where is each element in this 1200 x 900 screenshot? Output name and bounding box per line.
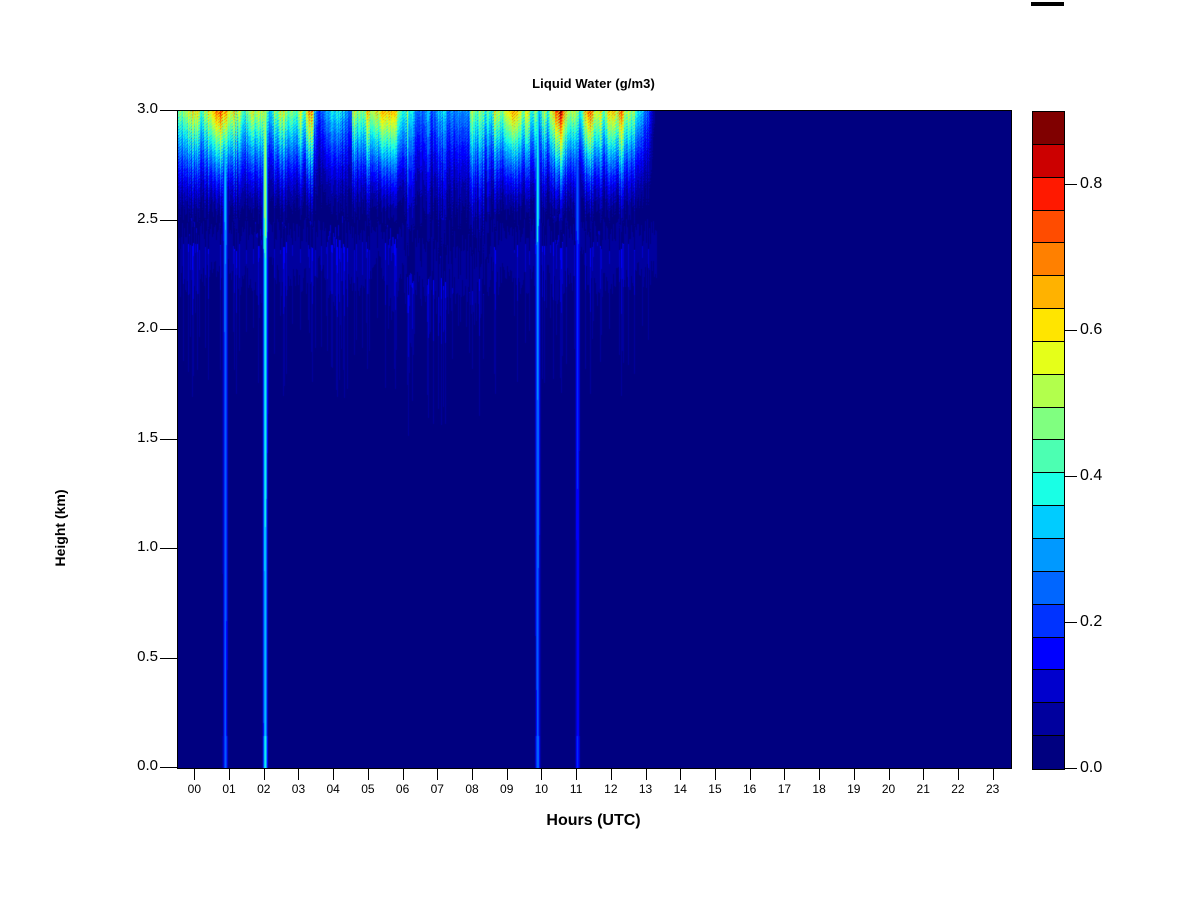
colorbar-tick-label: 0.8	[1080, 175, 1102, 193]
x-axis-tick	[750, 768, 751, 780]
x-axis-tick-label: 15	[700, 782, 730, 796]
y-axis-tick-label: 1.5	[112, 429, 158, 446]
colorbar-tick-label: 0.2	[1080, 613, 1102, 631]
x-axis-tick	[715, 768, 716, 780]
colorbar-band	[1033, 342, 1064, 375]
heatmap-plot-area	[177, 110, 1012, 769]
colorbar-tick-label: 0.0	[1080, 759, 1102, 777]
x-axis-tick	[264, 768, 265, 780]
x-axis-tick	[403, 768, 404, 780]
colorbar-band	[1033, 638, 1064, 671]
x-axis-tick	[784, 768, 785, 780]
x-axis-tick-label: 10	[526, 782, 556, 796]
colorbar-band	[1033, 375, 1064, 408]
x-axis-tick	[923, 768, 924, 780]
colorbar-tick	[1064, 184, 1077, 185]
colorbar-band	[1033, 276, 1064, 309]
y-axis-tick	[160, 110, 178, 111]
x-axis-tick-label: 14	[665, 782, 695, 796]
colorbar-tick	[1064, 768, 1077, 769]
x-axis-tick-label: 18	[804, 782, 834, 796]
x-axis-title: Hours (UTC)	[177, 812, 1010, 830]
colorbar-band	[1033, 145, 1064, 178]
x-axis-tick-label: 23	[978, 782, 1008, 796]
x-axis-tick-label: 06	[388, 782, 418, 796]
x-axis-tick-label: 20	[874, 782, 904, 796]
x-axis-tick	[819, 768, 820, 780]
figure-canvas: Liquid Water (g/m3) 0.00.51.01.52.02.53.…	[0, 0, 1200, 900]
x-axis-tick-label: 09	[492, 782, 522, 796]
x-axis-tick-label: 02	[249, 782, 279, 796]
colorbar-band	[1033, 440, 1064, 473]
y-axis-tick-label: 1.0	[112, 538, 158, 555]
x-axis-tick	[472, 768, 473, 780]
x-axis-tick	[889, 768, 890, 780]
x-axis-tick	[646, 768, 647, 780]
colorbar-band	[1033, 112, 1064, 145]
colorbar-band	[1033, 243, 1064, 276]
colorbar-band	[1033, 178, 1064, 211]
x-axis-tick	[437, 768, 438, 780]
y-axis-tick-label: 2.5	[112, 210, 158, 227]
colorbar-band	[1033, 309, 1064, 342]
colorbar-tick-label: 0.6	[1080, 321, 1102, 339]
x-axis-tick	[854, 768, 855, 780]
colorbar-tick	[1064, 622, 1077, 623]
x-axis-tick-label: 00	[179, 782, 209, 796]
x-axis-tick-label: 13	[631, 782, 661, 796]
y-axis-title: Height (km)	[52, 458, 68, 598]
y-axis-tick-label: 2.0	[112, 319, 158, 336]
x-axis-tick	[333, 768, 334, 780]
x-axis-tick	[958, 768, 959, 780]
x-axis-tick-label: 16	[735, 782, 765, 796]
y-axis-tick	[160, 439, 178, 440]
colorbar-band	[1033, 670, 1064, 703]
x-axis-tick	[368, 768, 369, 780]
x-axis-tick	[229, 768, 230, 780]
y-axis-labels: 0.00.51.01.52.02.53.0	[100, 0, 158, 900]
x-axis-tick	[541, 768, 542, 780]
x-axis-tick	[576, 768, 577, 780]
colorbar-tick	[1064, 476, 1077, 477]
colorbar-band	[1033, 703, 1064, 736]
x-axis-tick	[298, 768, 299, 780]
x-axis-tick-label: 05	[353, 782, 383, 796]
x-axis-tick-label: 12	[596, 782, 626, 796]
x-axis-tick-label: 08	[457, 782, 487, 796]
colorbar-band	[1033, 572, 1064, 605]
heatmap-image	[178, 111, 1011, 768]
x-axis-tick	[194, 768, 195, 780]
x-axis-tick-label: 04	[318, 782, 348, 796]
x-axis-tick-label: 01	[214, 782, 244, 796]
colorbar-band	[1033, 473, 1064, 506]
x-axis-tick	[507, 768, 508, 780]
y-axis-tick	[160, 767, 178, 768]
y-axis-tick-label: 0.0	[112, 757, 158, 774]
colorbar	[1032, 111, 1065, 770]
colorbar-band	[1033, 211, 1064, 244]
x-axis-tick	[611, 768, 612, 780]
colorbar-band	[1033, 605, 1064, 638]
x-axis-tick-label: 19	[839, 782, 869, 796]
colorbar-band	[1033, 736, 1064, 769]
page-title: Liquid Water (g/m3)	[177, 76, 1010, 91]
y-axis-tick-label: 0.5	[112, 648, 158, 665]
x-axis-tick-label: 22	[943, 782, 973, 796]
colorbar-band	[1033, 408, 1064, 441]
x-axis-tick-label: 07	[422, 782, 452, 796]
x-axis-tick-label: 21	[908, 782, 938, 796]
colorbar-tick-label: 0.4	[1080, 467, 1102, 485]
y-axis-tick	[160, 658, 178, 659]
y-axis-tick	[160, 329, 178, 330]
x-axis-tick	[993, 768, 994, 780]
x-axis-tick	[680, 768, 681, 780]
x-axis-tick-label: 11	[561, 782, 591, 796]
x-axis-tick-label: 03	[283, 782, 313, 796]
y-axis-tick	[160, 548, 178, 549]
y-axis-tick	[160, 220, 178, 221]
colorbar-tick	[1064, 330, 1077, 331]
x-axis-tick-label: 17	[769, 782, 799, 796]
y-axis-tick-label: 3.0	[112, 100, 158, 117]
colorbar-band	[1033, 506, 1064, 539]
colorbar-band	[1033, 539, 1064, 572]
top-edge-artifact	[1031, 2, 1064, 6]
